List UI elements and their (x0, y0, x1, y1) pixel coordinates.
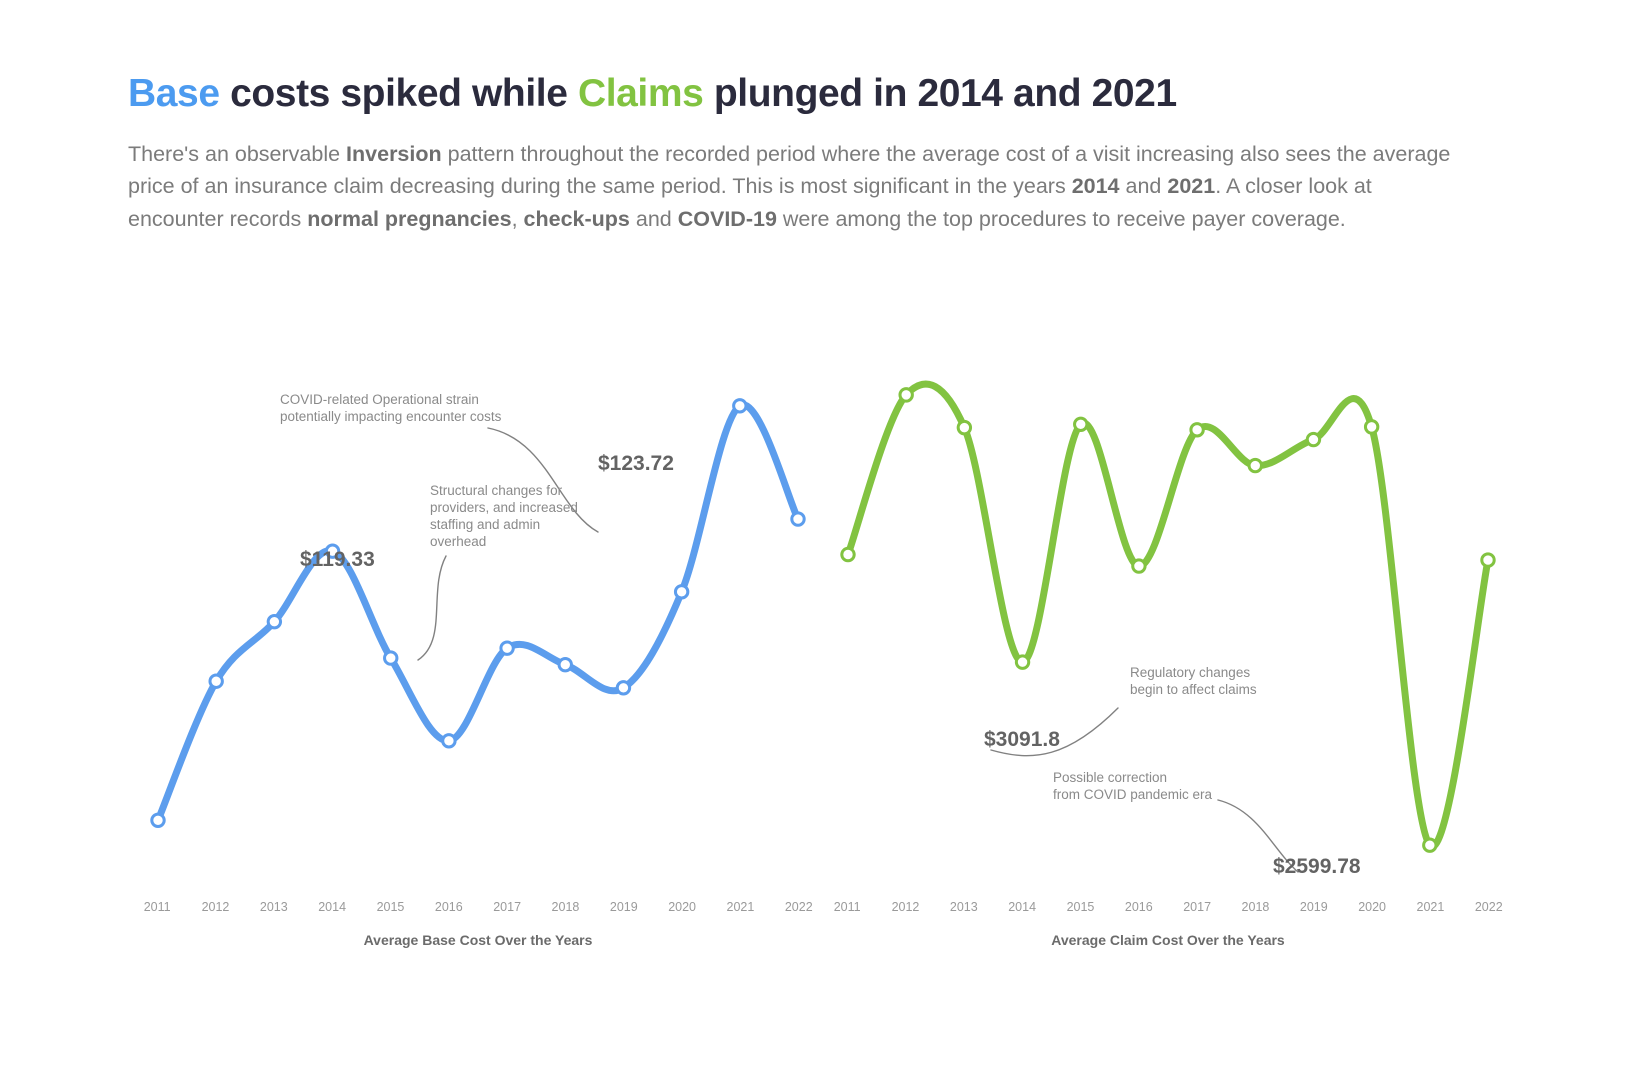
subtitle-text: and (630, 207, 678, 231)
x-tick-2015: 2015 (361, 900, 419, 924)
x-tick-2017: 2017 (1168, 900, 1226, 924)
data-point-2012[interactable] (900, 389, 912, 401)
data-point-2018[interactable] (1249, 459, 1261, 471)
charts-container: COVID-related Operational strain potenti… (0, 360, 1648, 1020)
title-text: plunged in 2014 and 2021 (703, 72, 1176, 115)
data-point-2015[interactable] (1075, 418, 1087, 430)
subtitle-emphasis: Inversion (346, 142, 442, 166)
data-point-2022[interactable] (1482, 554, 1494, 566)
value-label-2021-claim: $2599.78 (1273, 855, 1361, 879)
x-tick-2018: 2018 (536, 900, 594, 924)
data-point-2020[interactable] (675, 586, 687, 598)
data-point-2014[interactable] (1016, 656, 1028, 668)
x-tick-2011: 2011 (818, 900, 876, 924)
chart-caption-base: Average Base Cost Over the Years (128, 932, 828, 948)
subtitle-emphasis: 2021 (1167, 174, 1215, 198)
subtitle-text: , (512, 207, 524, 231)
data-point-2021[interactable] (1424, 839, 1436, 851)
chart-average-claim-cost: Regulatory changes begin to affect claim… (818, 360, 1518, 1020)
subtitle-text: There's an observable (128, 142, 346, 166)
chart-caption-claim: Average Claim Cost Over the Years (818, 932, 1518, 948)
x-tick-2020: 2020 (1343, 900, 1401, 924)
x-tick-2012: 2012 (186, 900, 244, 924)
subtitle-text: were among the top procedures to receive… (777, 207, 1346, 231)
chart-average-base-cost: COVID-related Operational strain potenti… (128, 360, 828, 1020)
header: Base costs spiked while Claims plunged i… (128, 72, 1528, 236)
data-point-2017[interactable] (1191, 424, 1203, 436)
subtitle-emphasis: normal pregnancies (307, 207, 511, 231)
annotation-possible-correction: Possible correction from COVID pandemic … (1053, 770, 1212, 804)
annotation-covid-operational-strain: COVID-related Operational strain potenti… (280, 392, 501, 426)
x-tick-2021: 2021 (711, 900, 769, 924)
data-point-2016[interactable] (443, 735, 455, 747)
data-point-2022[interactable] (792, 513, 804, 525)
x-tick-2014: 2014 (303, 900, 361, 924)
infographic-page: Base costs spiked while Claims plunged i… (0, 0, 1648, 1080)
x-tick-2019: 2019 (595, 900, 653, 924)
subtitle-text: and (1120, 174, 1168, 198)
x-tick-2016: 2016 (420, 900, 478, 924)
page-title: Base costs spiked while Claims plunged i… (128, 72, 1528, 116)
data-point-2019[interactable] (1307, 433, 1319, 445)
x-tick-2022: 2022 (1460, 900, 1518, 924)
annotation-structural-changes: Structural changes for providers, and in… (430, 483, 578, 551)
annotation-regulatory-changes: Regulatory changes begin to affect claim… (1130, 665, 1257, 699)
data-point-2016[interactable] (1133, 560, 1145, 572)
x-tick-2018: 2018 (1226, 900, 1284, 924)
x-tick-2014: 2014 (993, 900, 1051, 924)
data-point-2021[interactable] (734, 400, 746, 412)
value-label-2014-claim: $3091.8 (984, 728, 1060, 752)
base-cost-line-svg (128, 360, 828, 920)
data-point-2019[interactable] (617, 682, 629, 694)
claim-cost-line-svg (818, 360, 1518, 920)
annotation-leader-line-1 (418, 556, 446, 660)
x-tick-2011: 2011 (128, 900, 186, 924)
x-axis-claim: 2011201220132014201520162017201820192020… (818, 900, 1518, 924)
value-label-2014-base: $119.33 (300, 548, 375, 572)
subtitle-emphasis: COVID-19 (678, 207, 777, 231)
data-point-2011[interactable] (152, 814, 164, 826)
data-point-2013[interactable] (268, 615, 280, 627)
data-point-2018[interactable] (559, 658, 571, 670)
data-point-2017[interactable] (501, 642, 513, 654)
subtitle-emphasis: 2014 (1072, 174, 1120, 198)
line-series-average-base-cost (158, 405, 798, 820)
data-point-2012[interactable] (210, 675, 222, 687)
x-axis-base: 2011201220132014201520162017201820192020… (128, 900, 828, 924)
data-point-2015[interactable] (385, 652, 397, 664)
x-tick-2013: 2013 (935, 900, 993, 924)
data-point-2020[interactable] (1365, 421, 1377, 433)
title-highlight-base: Base (128, 72, 220, 115)
title-highlight-claims: Claims (578, 72, 704, 115)
x-tick-2016: 2016 (1110, 900, 1168, 924)
x-tick-2019: 2019 (1285, 900, 1343, 924)
data-point-2011[interactable] (842, 548, 854, 560)
subtitle-emphasis: check-ups (524, 207, 630, 231)
x-tick-2015: 2015 (1051, 900, 1109, 924)
title-text: costs spiked while (220, 72, 578, 115)
page-subtitle: There's an observable Inversion pattern … (128, 138, 1458, 236)
x-tick-2021: 2021 (1401, 900, 1459, 924)
x-tick-2017: 2017 (478, 900, 536, 924)
x-tick-2013: 2013 (245, 900, 303, 924)
x-tick-2012: 2012 (876, 900, 934, 924)
data-point-2013[interactable] (958, 421, 970, 433)
value-label-2021-base: $123.72 (598, 452, 674, 476)
x-tick-2020: 2020 (653, 900, 711, 924)
